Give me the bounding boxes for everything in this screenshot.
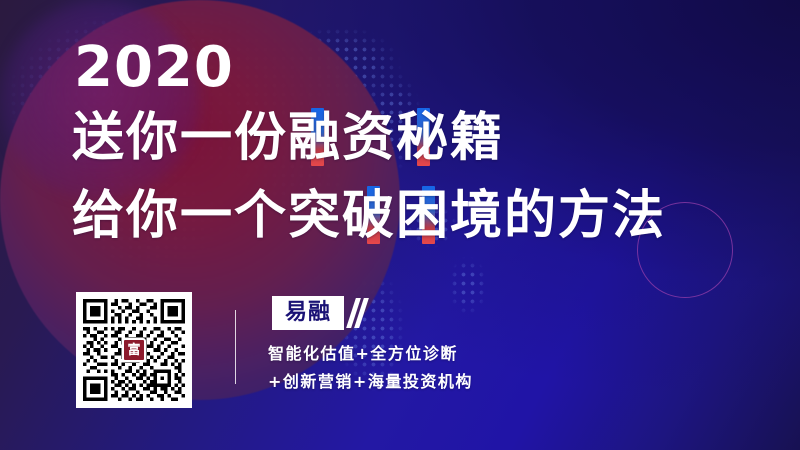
brand-lockup: 易融 [272, 296, 364, 330]
year-label: 2020 [74, 40, 234, 96]
brand-name: 易融 [272, 296, 344, 330]
headline-line-1: 送你一份融资秘籍 [72, 112, 732, 164]
headline-line-1-text: 送你一份融资秘籍 [72, 108, 504, 168]
footer-row: 富 易融 智能化估值+全方位诊断 +创新营销+海量投资机构 [0, 288, 800, 418]
slash-decoration-icon [344, 296, 364, 330]
qr-matrix: 富 [83, 299, 185, 401]
tagline-line-1: 智能化估值+全方位诊断 [268, 340, 473, 368]
headline-block: 送你一份融资秘籍 给你一个突破困境的方法 [72, 112, 732, 242]
banner-content: 2020 送你一份融资秘籍 给你一个突破困境的方法 [0, 0, 800, 450]
qr-code[interactable]: 富 [76, 292, 192, 408]
promo-banner: 2020 送你一份融资秘籍 给你一个突破困境的方法 [0, 0, 800, 450]
tagline-block: 智能化估值+全方位诊断 +创新营销+海量投资机构 [268, 340, 473, 396]
qr-center-logo: 富 [122, 338, 146, 362]
headline-line-2-text: 给你一个突破困境的方法 [72, 186, 666, 246]
tagline-line-2: +创新营销+海量投资机构 [268, 368, 473, 396]
headline-line-2: 给你一个突破困境的方法 [72, 190, 732, 242]
vertical-divider [235, 310, 236, 384]
